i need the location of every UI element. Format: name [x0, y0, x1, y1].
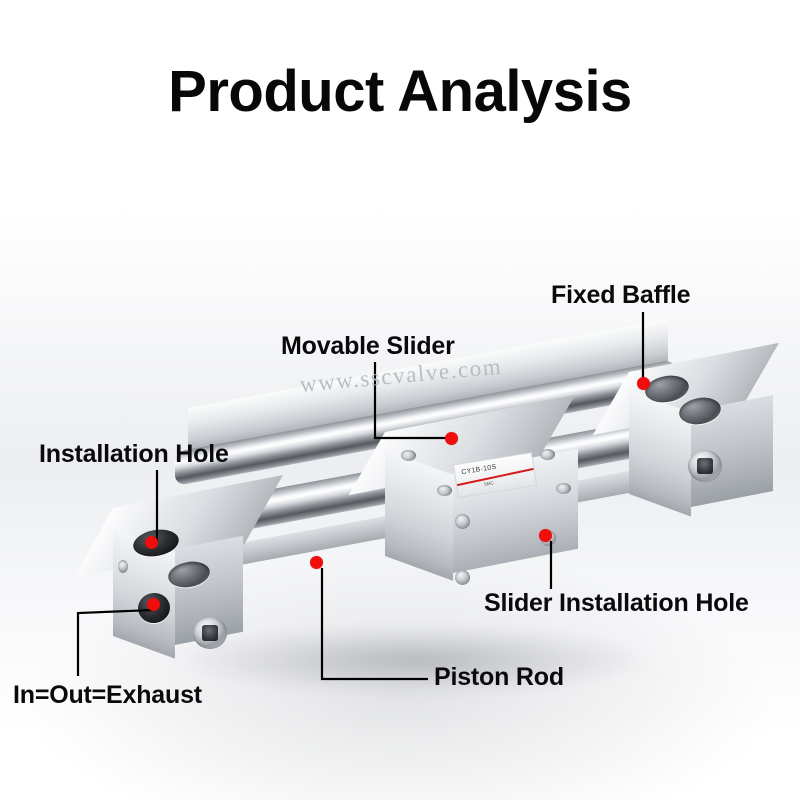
annotation-label-installation-hole: Installation Hole [39, 440, 229, 469]
marker-dot-piston-rod [310, 556, 323, 569]
marker-dot-slider-installation-hole [539, 529, 552, 542]
product-analysis-figure: Product Analysis CY1B-10S SMC [0, 0, 800, 800]
leader-piston-rod [322, 568, 428, 679]
leader-lines [0, 0, 800, 800]
annotation-label-movable-slider: Movable Slider [281, 332, 455, 361]
annotation-label-slider-installation-hole: Slider Installation Hole [484, 589, 749, 618]
annotation-label-piston-rod: Piston Rod [434, 663, 564, 692]
marker-dot-movable-slider [445, 432, 458, 445]
leader-movable-slider [375, 362, 451, 438]
marker-dot-installation-hole [145, 536, 158, 549]
marker-dot-fixed-baffle [637, 377, 650, 390]
annotation-label-in-out-exhaust: In=Out=Exhaust [13, 681, 202, 710]
marker-dot-in-out-exhaust [147, 598, 160, 611]
leader-in-out-exhaust [78, 610, 153, 676]
annotation-label-fixed-baffle: Fixed Baffle [551, 281, 690, 310]
